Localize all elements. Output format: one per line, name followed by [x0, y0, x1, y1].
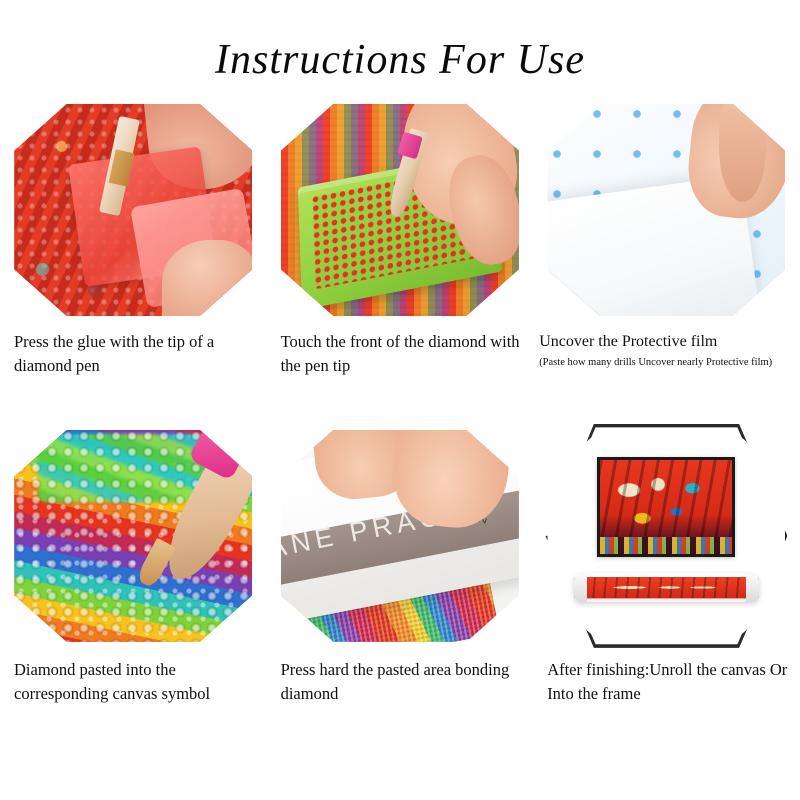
page-title: Instructions For Use	[0, 0, 800, 84]
rainbow-drills-macro-photo	[14, 430, 252, 642]
steps-row-bottom: Diamond pasted into the corresponding ca…	[0, 430, 800, 706]
step-cell-6: After finishing:Unroll the canvas Or Int…	[533, 430, 800, 706]
pressing-book-on-canvas-photo: ANE PRACE 2019 SO	[281, 430, 519, 642]
framed-painting-and-rolled-canvas-photo	[547, 430, 785, 642]
tube-right-end	[746, 574, 759, 602]
step-cell-5: ANE PRACE 2019 SO Press hard the pasted …	[267, 430, 534, 706]
framed-painting	[597, 457, 735, 557]
step-1-photo-wrap	[14, 104, 252, 316]
glue-and-pen-photo	[14, 104, 252, 316]
step-cell-3: Uncover the Protective film (Paste how m…	[533, 104, 800, 378]
step-cell-1: Press the glue with the tip of a diamond…	[0, 104, 267, 378]
step-4-photo-wrap	[14, 430, 252, 642]
finger-lower-shape	[162, 240, 252, 316]
step-3-caption-main: Uncover the Protective film	[539, 333, 717, 350]
tube-left-end	[574, 574, 587, 602]
step-1-caption: Press the glue with the tip of a diamond…	[0, 316, 267, 378]
steps-grid: Press the glue with the tip of a diamond…	[0, 104, 800, 706]
step-4-caption: Diamond pasted into the corresponding ca…	[0, 642, 267, 706]
steps-row-top: Press the glue with the tip of a diamond…	[0, 104, 800, 378]
rolled-canvas-tube	[574, 574, 760, 602]
painting-artwork	[600, 460, 732, 554]
step-6-caption: After finishing:Unroll the canvas Or Int…	[533, 642, 800, 706]
step-cell-4: Diamond pasted into the corresponding ca…	[0, 430, 267, 706]
painting-bottom-detail	[600, 537, 732, 554]
drill-tray-and-pen-photo	[281, 104, 519, 316]
step-6-photo-wrap	[547, 430, 785, 642]
step-cell-2: Touch the front of the diamond with the …	[267, 104, 534, 378]
instructions-page: Instructions For Use Press the glue with…	[0, 0, 800, 800]
step-3-photo-wrap	[547, 104, 785, 316]
step-2-caption: Touch the front of the diamond with the …	[267, 316, 534, 378]
rolled-canvas-artwork	[583, 577, 750, 598]
peeling-protective-film-photo	[547, 104, 785, 316]
step-2-photo-wrap	[281, 104, 519, 316]
step-5-caption: Press hard the pasted area bonding diamo…	[267, 642, 534, 706]
step-5-photo-wrap: ANE PRACE 2019 SO	[281, 430, 519, 642]
step-3-caption-sub: (Paste how many drills Uncover nearly Pr…	[539, 355, 794, 371]
step-3-caption: Uncover the Protective film (Paste how m…	[533, 316, 800, 371]
